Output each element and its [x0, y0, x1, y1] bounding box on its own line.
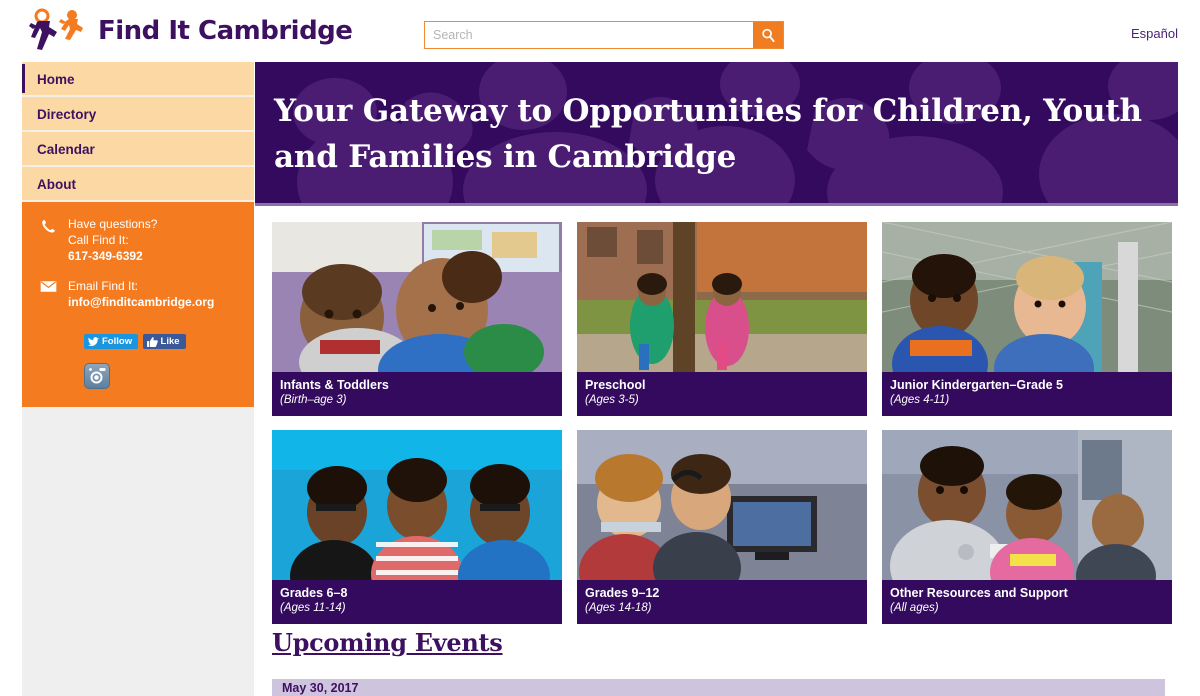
phone-icon [40, 216, 68, 264]
twitter-follow-label: Follow [102, 336, 132, 347]
envelope-icon [40, 278, 68, 310]
phone-text: Have questions? Call Find It: 617-349-63… [68, 216, 157, 264]
card-title: Junior Kindergarten–Grade 5 [890, 378, 1164, 393]
email-text: Email Find It: info@finditcambridge.org [68, 278, 214, 310]
hero-banner: Your Gateway to Opportunities for Childr… [255, 62, 1178, 206]
card-title: Grades 9–12 [585, 586, 859, 601]
twitter-bird-icon [88, 337, 99, 347]
card-subtitle: (Ages 3-5) [585, 393, 859, 408]
email-label: Email Find It: [68, 278, 214, 294]
email-address[interactable]: info@finditcambridge.org [68, 294, 214, 310]
card-junior-kindergarten-grade5[interactable]: Junior Kindergarten–Grade 5 (Ages 4-11) [882, 222, 1172, 416]
card-image-infants [272, 222, 562, 372]
card-subtitle: (All ages) [890, 601, 1164, 616]
instagram-icon [85, 364, 109, 388]
card-title: Preschool [585, 378, 859, 393]
phone-line-1: Have questions? [68, 216, 157, 232]
card-grades-9-12[interactable]: Grades 9–12 (Ages 14-18) [577, 430, 867, 624]
card-caption-jk-grade5: Junior Kindergarten–Grade 5 (Ages 4-11) [882, 372, 1172, 416]
sidebar-item-directory[interactable]: Directory [22, 97, 254, 132]
facebook-like-label: Like [161, 336, 180, 347]
running-figures-logo-icon [28, 7, 90, 55]
event-date: May 30, 2017 [272, 679, 1165, 695]
card-subtitle: (Ages 14-18) [585, 601, 859, 616]
thumbs-up-icon [147, 337, 158, 347]
card-subtitle: (Birth–age 3) [280, 393, 554, 408]
card-title: Infants & Toddlers [280, 378, 554, 393]
card-image-grades-9-12 [577, 430, 867, 580]
instagram-button[interactable] [84, 363, 110, 389]
card-image-preschool [577, 222, 867, 372]
email-contact-row: Email Find It: info@finditcambridge.org [22, 278, 254, 310]
upcoming-events-section: Upcoming Events [272, 628, 1172, 657]
search-icon [761, 28, 776, 43]
sidebar-item-home[interactable]: Home [22, 62, 254, 97]
card-caption-infants: Infants & Toddlers (Birth–age 3) [272, 372, 562, 416]
language-link[interactable]: Español [1131, 26, 1178, 41]
search-button[interactable] [753, 22, 783, 48]
category-card-grid: Infants & Toddlers (Birth–age 3) [272, 222, 1172, 638]
card-caption-grades-6-8: Grades 6–8 (Ages 11-14) [272, 580, 562, 624]
card-row-2: Grades 6–8 (Ages 11-14) [272, 430, 1172, 624]
card-caption-preschool: Preschool (Ages 3-5) [577, 372, 867, 416]
sidebar: Home Directory Calendar About Have quest… [22, 62, 254, 696]
site-logo[interactable]: Find It Cambridge [28, 7, 352, 55]
sidebar-item-about[interactable]: About [22, 167, 254, 202]
sidebar-nav: Home Directory Calendar About [22, 62, 254, 202]
card-caption-other-resources: Other Resources and Support (All ages) [882, 580, 1172, 624]
facebook-like-button[interactable]: Like [143, 334, 186, 349]
hero-title: Your Gateway to Opportunities for Childr… [255, 62, 1178, 180]
card-row-1: Infants & Toddlers (Birth–age 3) [272, 222, 1172, 416]
search-input[interactable] [425, 22, 753, 48]
social-buttons: Follow Like [22, 322, 254, 389]
card-image-grades-6-8 [272, 430, 562, 580]
card-grades-6-8[interactable]: Grades 6–8 (Ages 11-14) [272, 430, 562, 624]
sidebar-item-calendar[interactable]: Calendar [22, 132, 254, 167]
card-other-resources[interactable]: Other Resources and Support (All ages) [882, 430, 1172, 624]
phone-number[interactable]: 617-349-6392 [68, 248, 157, 264]
card-infants-toddlers[interactable]: Infants & Toddlers (Birth–age 3) [272, 222, 562, 416]
upcoming-events-heading[interactable]: Upcoming Events [272, 628, 503, 657]
page-root: Find It Cambridge Español Home Directory… [0, 0, 1200, 696]
contact-block: Have questions? Call Find It: 617-349-63… [22, 202, 254, 407]
site-header: Find It Cambridge Español [0, 0, 1200, 62]
card-image-jk-grade5 [882, 222, 1172, 372]
card-preschool[interactable]: Preschool (Ages 3-5) [577, 222, 867, 416]
card-image-other-resources [882, 430, 1172, 580]
event-date-bar: May 30, 2017 [272, 679, 1165, 696]
logo-text: Find It Cambridge [98, 16, 352, 46]
twitter-follow-button[interactable]: Follow [84, 334, 138, 349]
card-title: Grades 6–8 [280, 586, 554, 601]
search-box[interactable] [424, 21, 784, 49]
card-subtitle: (Ages 11-14) [280, 601, 554, 616]
phone-contact-row: Have questions? Call Find It: 617-349-63… [22, 216, 254, 264]
card-subtitle: (Ages 4-11) [890, 393, 1164, 408]
phone-line-2: Call Find It: [68, 232, 157, 248]
card-caption-grades-9-12: Grades 9–12 (Ages 14-18) [577, 580, 867, 624]
card-title: Other Resources and Support [890, 586, 1164, 601]
